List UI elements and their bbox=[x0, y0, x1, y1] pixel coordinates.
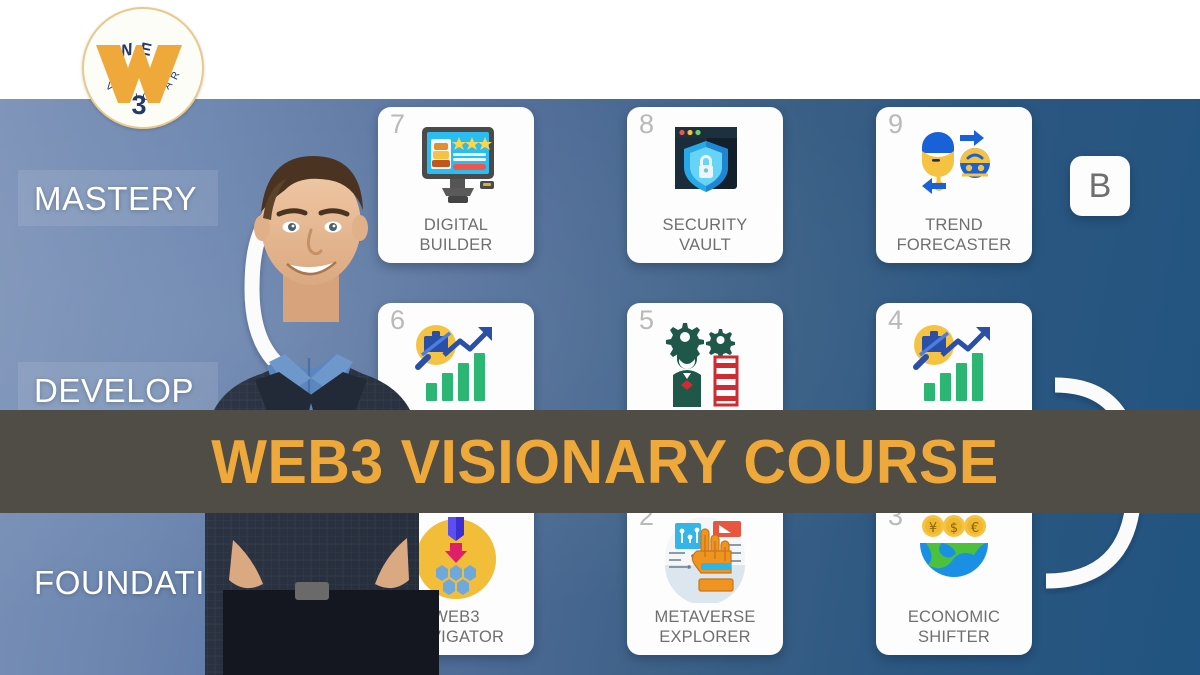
svg-text:¥: ¥ bbox=[929, 521, 937, 536]
vr-glove-icon bbox=[653, 515, 757, 603]
trend-faces-icon bbox=[902, 123, 1006, 211]
logo-mark: WEB VISIONARY 3 bbox=[68, 2, 208, 132]
web3-visionary-logo: WEB VISIONARY 3 bbox=[68, 2, 208, 132]
svg-text:3: 3 bbox=[131, 90, 146, 120]
end-card-label: B bbox=[1089, 167, 1112, 206]
card-number: 9 bbox=[888, 111, 903, 138]
card-number: 4 bbox=[888, 307, 903, 334]
skills-gears-icon bbox=[653, 319, 757, 407]
video-thumbnail-slide: MASTERY DEVELOP FOUNDATION 7 DIG bbox=[0, 0, 1200, 675]
course-card-2[interactable]: 2 ME bbox=[627, 499, 783, 655]
shield-lock-icon bbox=[653, 123, 757, 211]
course-title-banner: WEB3 VISIONARY COURSE bbox=[0, 410, 1200, 513]
card-label: TREND FORECASTER bbox=[897, 215, 1012, 256]
card-number: 5 bbox=[639, 307, 654, 334]
row-label-mastery: MASTERY bbox=[34, 180, 197, 218]
svg-text:$: $ bbox=[950, 521, 958, 536]
row-label-develop: DEVELOP bbox=[34, 372, 194, 410]
course-title: WEB3 VISIONARY COURSE bbox=[0, 425, 1200, 497]
svg-text:€: € bbox=[971, 521, 979, 536]
presenter-photo bbox=[175, 120, 485, 675]
end-card-b[interactable]: B bbox=[1070, 156, 1130, 216]
card-label: ECONOMIC SHIFTER bbox=[908, 607, 1000, 648]
card-number: 8 bbox=[639, 111, 654, 138]
card-label: METAVERSE EXPLORER bbox=[654, 607, 755, 648]
course-card-3[interactable]: 3 ¥ $ € ECONOMIC SHIFTER bbox=[876, 499, 1032, 655]
card-label: SECURITY VAULT bbox=[662, 215, 747, 256]
globe-currency-icon: ¥ $ € bbox=[902, 515, 1006, 603]
course-card-9[interactable]: 9 TREND FORECASTER bbox=[876, 107, 1032, 263]
course-card-8[interactable]: 8 SECURITY VAULT bbox=[627, 107, 783, 263]
growth-chart-icon bbox=[902, 319, 1006, 407]
